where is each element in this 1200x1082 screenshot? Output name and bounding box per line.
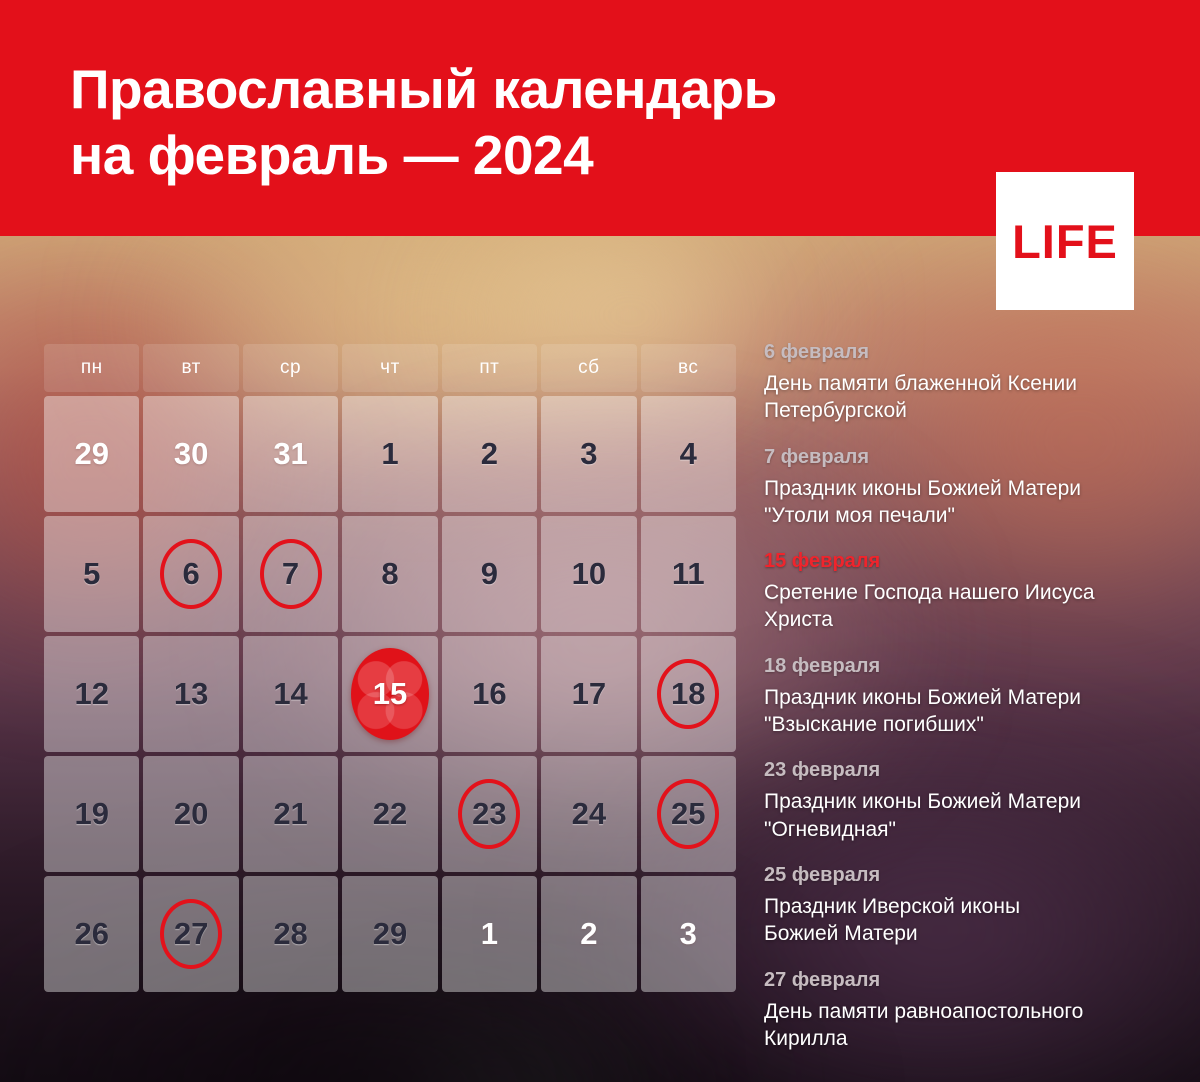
event-date: 6 февраля <box>764 340 1164 365</box>
day-number: 30 <box>174 436 208 472</box>
day-number: 10 <box>572 556 606 592</box>
life-logo-text: LIFE <box>1012 218 1118 265</box>
calendar-day-cell[interactable]: 1 <box>342 396 437 512</box>
event-date: 15 февраля <box>764 549 1164 574</box>
calendar-day-cell[interactable]: 17 <box>541 636 636 752</box>
calendar-day-cell[interactable]: 25 <box>641 756 736 872</box>
calendar-day-cell[interactable]: 2 <box>442 396 537 512</box>
day-number: 29 <box>74 436 108 472</box>
event-date: 18 февраля <box>764 654 1164 679</box>
calendar-day-cell[interactable]: 2 <box>541 876 636 992</box>
calendar-day-cell[interactable]: 12 <box>44 636 139 752</box>
infographic-poster: Православный календарь на февраль — 2024… <box>0 0 1200 1082</box>
calendar-weeks: 2930311234567891011121314151617181920212… <box>44 396 736 992</box>
event-description: День памяти блаженной Ксении Петербургск… <box>764 370 1164 425</box>
event-date: 7 февраля <box>764 445 1164 470</box>
event-description: Праздник иконы Божией Матери "Взыскание … <box>764 684 1164 739</box>
weekday-header-вт: вт <box>143 344 238 392</box>
calendar-day-cell[interactable]: 3 <box>541 396 636 512</box>
calendar-day-cell[interactable]: 29 <box>44 396 139 512</box>
day-number: 28 <box>273 916 307 952</box>
day-number: 13 <box>174 676 208 712</box>
day-number: 21 <box>273 796 307 832</box>
weekday-header-пт: пт <box>442 344 537 392</box>
calendar-day-cell[interactable]: 8 <box>342 516 437 632</box>
calendar-week-row: 26272829123 <box>44 876 736 992</box>
day-number: 23 <box>472 796 506 832</box>
calendar-day-cell[interactable]: 10 <box>541 516 636 632</box>
calendar-day-cell[interactable]: 21 <box>243 756 338 872</box>
weekday-header-сб: сб <box>541 344 636 392</box>
day-number: 31 <box>273 436 307 472</box>
calendar-day-cell[interactable]: 31 <box>243 396 338 512</box>
calendar-day-cell[interactable]: 22 <box>342 756 437 872</box>
day-number: 26 <box>74 916 108 952</box>
event-item: 15 февраляСретение Господа нашего Иисуса… <box>764 549 1164 634</box>
day-number: 12 <box>74 676 108 712</box>
day-number: 22 <box>373 796 407 832</box>
calendar-day-cell[interactable]: 24 <box>541 756 636 872</box>
calendar-day-cell[interactable]: 6 <box>143 516 238 632</box>
calendar-day-cell[interactable]: 19 <box>44 756 139 872</box>
calendar-day-cell[interactable]: 7 <box>243 516 338 632</box>
calendar-day-cell[interactable]: 14 <box>243 636 338 752</box>
event-item: 6 февраляДень памяти блаженной Ксении Пе… <box>764 340 1164 425</box>
event-list: 6 февраляДень памяти блаженной Ксении Пе… <box>764 340 1164 1052</box>
weekday-header-вс: вс <box>641 344 736 392</box>
calendar-day-cell[interactable]: 1 <box>442 876 537 992</box>
day-number: 4 <box>680 436 697 472</box>
day-number: 19 <box>74 796 108 832</box>
event-item: 7 февраляПраздник иконы Божией Матери "У… <box>764 445 1164 530</box>
day-number: 2 <box>580 916 597 952</box>
calendar-day-cell[interactable]: 27 <box>143 876 238 992</box>
event-description: Сретение Господа нашего Иисуса Христа <box>764 579 1164 634</box>
calendar-day-cell[interactable]: 18 <box>641 636 736 752</box>
day-number: 7 <box>282 556 299 592</box>
event-item: 27 февраляДень памяти равноапостольного … <box>764 968 1164 1053</box>
day-number: 3 <box>580 436 597 472</box>
day-number: 17 <box>572 676 606 712</box>
calendar-day-cell[interactable]: 23 <box>442 756 537 872</box>
calendar-day-cell[interactable]: 4 <box>641 396 736 512</box>
day-number: 29 <box>373 916 407 952</box>
day-number: 11 <box>672 556 705 592</box>
calendar-day-cell[interactable]: 5 <box>44 516 139 632</box>
weekday-header-пн: пн <box>44 344 139 392</box>
calendar-week-row: 567891011 <box>44 516 736 632</box>
event-description: Праздник иконы Божией Матери "Огневидная… <box>764 788 1164 843</box>
calendar-day-cell[interactable]: 9 <box>442 516 537 632</box>
day-number: 20 <box>174 796 208 832</box>
day-number: 6 <box>183 556 200 592</box>
calendar-day-cell[interactable]: 11 <box>641 516 736 632</box>
calendar-grid: пнвтсрчтптсбвс 2930311234567891011121314… <box>44 344 736 992</box>
calendar-day-cell[interactable]: 26 <box>44 876 139 992</box>
day-number: 1 <box>381 436 398 472</box>
calendar-day-cell[interactable]: 29 <box>342 876 437 992</box>
calendar-day-cell[interactable]: 3 <box>641 876 736 992</box>
day-number: 8 <box>381 556 398 592</box>
calendar-day-cell[interactable]: 15 <box>342 636 437 752</box>
event-description: Праздник Иверской иконы Божией Матери <box>764 893 1164 948</box>
day-number: 3 <box>680 916 697 952</box>
calendar-day-cell[interactable]: 20 <box>143 756 238 872</box>
calendar-week-row: 12131415161718 <box>44 636 736 752</box>
calendar-week-row: 2930311234 <box>44 396 736 512</box>
page-title: Православный календарь на февраль — 2024 <box>70 56 950 188</box>
event-date: 25 февраля <box>764 863 1164 888</box>
event-description: День памяти равноапостольного Кирилла <box>764 998 1164 1053</box>
calendar-day-cell[interactable]: 28 <box>243 876 338 992</box>
day-number: 25 <box>671 796 705 832</box>
event-description: Праздник иконы Божией Матери "Утоли моя … <box>764 475 1164 530</box>
day-number: 14 <box>273 676 307 712</box>
calendar-day-cell[interactable]: 16 <box>442 636 537 752</box>
life-logo[interactable]: LIFE <box>996 172 1134 310</box>
day-number: 18 <box>671 676 705 712</box>
event-item: 18 февраляПраздник иконы Божией Матери "… <box>764 654 1164 739</box>
day-number: 15 <box>373 676 407 712</box>
weekday-header-row: пнвтсрчтптсбвс <box>44 344 736 392</box>
weekday-header-чт: чт <box>342 344 437 392</box>
event-date: 27 февраля <box>764 968 1164 993</box>
event-item: 25 февраляПраздник Иверской иконы Божией… <box>764 863 1164 948</box>
event-item: 23 февраляПраздник иконы Божией Матери "… <box>764 758 1164 843</box>
day-number: 16 <box>472 676 506 712</box>
day-number: 27 <box>174 916 208 952</box>
weekday-header-ср: ср <box>243 344 338 392</box>
calendar-day-cell[interactable]: 13 <box>143 636 238 752</box>
event-date: 23 февраля <box>764 758 1164 783</box>
day-number: 5 <box>83 556 100 592</box>
calendar-week-row: 19202122232425 <box>44 756 736 872</box>
calendar-day-cell[interactable]: 30 <box>143 396 238 512</box>
day-number: 2 <box>481 436 498 472</box>
day-number: 1 <box>481 916 498 952</box>
day-number: 9 <box>481 556 498 592</box>
day-number: 24 <box>572 796 606 832</box>
